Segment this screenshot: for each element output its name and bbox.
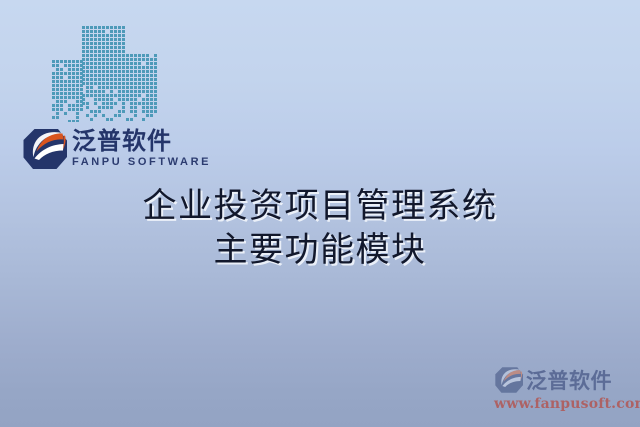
watermark: 泛普软件 www.fanpusoft.com bbox=[494, 365, 634, 421]
fanpu-logo-text: 泛普软件 FANPU SOFTWARE bbox=[72, 129, 211, 169]
page-title: 企业投资项目管理系统 主要功能模块 bbox=[0, 184, 640, 272]
watermark-logo-row: 泛普软件 bbox=[494, 365, 634, 395]
logo-name-cn: 泛普软件 bbox=[72, 129, 211, 154]
title-line-1: 企业投资项目管理系统 bbox=[0, 184, 640, 228]
watermark-url: www.fanpusoft.com bbox=[494, 396, 634, 412]
fanpu-logo-mark-watermark-icon bbox=[494, 366, 524, 394]
watermark-name-cn: 泛普软件 bbox=[526, 365, 612, 395]
pixelated-city-skyline-graphic bbox=[50, 24, 162, 122]
fanpu-logo-mark-icon bbox=[22, 127, 68, 171]
logo-name-en: FANPU SOFTWARE bbox=[72, 156, 211, 169]
fanpu-logo-lockup: 泛普软件 FANPU SOFTWARE bbox=[22, 127, 211, 171]
title-line-2: 主要功能模块 bbox=[0, 228, 640, 272]
presentation-slide: 泛普软件 FANPU SOFTWARE 企业投资项目管理系统 主要功能模块 泛普… bbox=[0, 0, 640, 427]
